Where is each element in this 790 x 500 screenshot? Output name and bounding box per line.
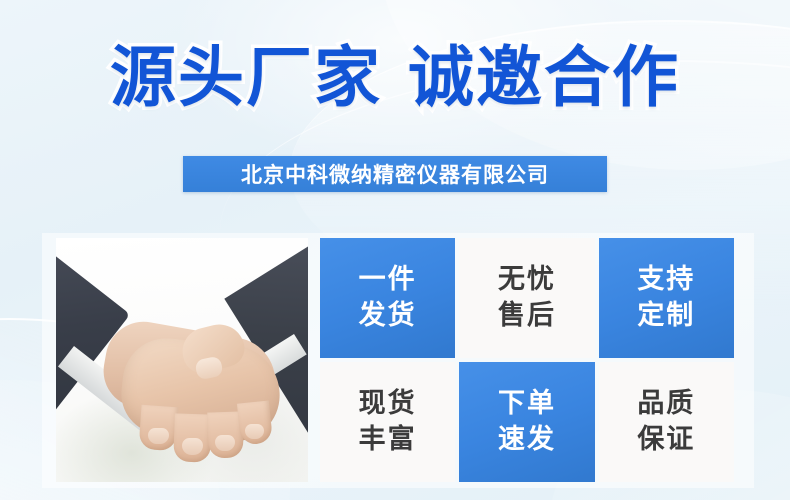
feature-line-1: 下单 <box>498 386 556 422</box>
handshake-photo <box>56 238 308 482</box>
feature-cell-wuyou-shouhou: 无忧 售后 <box>459 238 594 358</box>
feature-grid: 一件 发货 无忧 售后 支持 定制 现货 丰富 下单 速发 品质 保证 <box>320 238 734 482</box>
feature-line-1: 品质 <box>637 386 695 422</box>
feature-line-1: 无忧 <box>498 262 556 298</box>
feature-line-2: 售后 <box>498 298 556 334</box>
feature-line-2: 定制 <box>637 298 695 334</box>
headline-part-2: 诚邀合作 <box>408 40 680 114</box>
fingernail-4 <box>245 424 264 439</box>
feature-line-1: 现货 <box>359 386 417 422</box>
headline: 源头厂家诚邀合作 <box>0 44 790 110</box>
feature-line-2: 保证 <box>637 422 695 458</box>
company-name-text: 北京中科微纳精密仪器有限公司 <box>241 159 549 189</box>
headline-part-1: 源头厂家 <box>110 40 382 114</box>
feature-line-1: 一件 <box>359 262 417 298</box>
fingernail-1 <box>148 428 169 444</box>
feature-line-2: 速发 <box>498 422 556 458</box>
feature-line-2: 丰富 <box>359 422 417 458</box>
feature-line-1: 支持 <box>637 262 695 298</box>
feature-line-2: 发货 <box>359 298 417 334</box>
promo-banner: 源头厂家诚邀合作 北京中科微纳精密仪器有限公司 一件 发货 无忧 <box>0 0 790 500</box>
company-name-bar: 北京中科微纳精密仪器有限公司 <box>183 156 607 192</box>
fingernail-2 <box>182 438 203 455</box>
fingernail-3 <box>215 435 235 451</box>
feature-cell-xiadan-sufa: 下单 速发 <box>459 362 594 482</box>
feature-cell-zhichi-dingzhi: 支持 定制 <box>599 238 734 358</box>
feature-cell-xianhuo-fengfu: 现货 丰富 <box>320 362 455 482</box>
feature-cell-yijian-fahuo: 一件 发货 <box>320 238 455 358</box>
feature-cell-pinzhi-baozheng: 品质 保证 <box>599 362 734 482</box>
